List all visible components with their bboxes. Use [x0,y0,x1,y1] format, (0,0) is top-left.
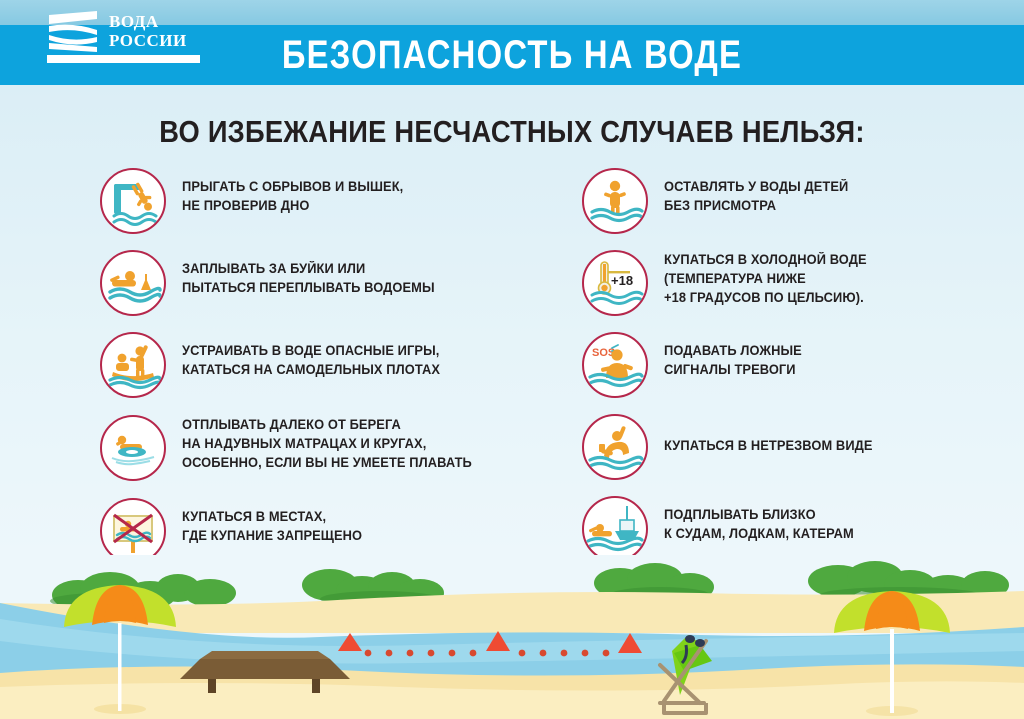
rules-column-left: ПРЫГАТЬ С ОБРЫВОВ И ВЫШЕК, НЕ ПРОВЕРИВ Д… [100,168,570,580]
list-item-line: ПОДПЛЫВАТЬ БЛИЗКО [664,505,854,524]
list-item-line: БЕЗ ПРИСМОТРА [664,196,848,215]
list-item-line: НА НАДУВНЫХ МАТРАЦАХ И КРУГАХ, [182,434,472,453]
list-item[interactable]: ОТПЛЫВАТЬ ДАЛЕКО ОТ БЕРЕГА НА НАДУВНЫХ М… [100,415,570,481]
list-item[interactable]: ЗАПЛЫВАТЬ ЗА БУЙКИ ИЛИ ПЫТАТЬСЯ ПЕРЕПЛЫВ… [100,250,570,316]
list-item-line: ПОДАВАТЬ ЛОЖНЫЕ [664,341,802,360]
list-item-text: ПОДАВАТЬ ЛОЖНЫЕ СИГНАЛЫ ТРЕВОГИ [664,332,802,379]
svg-text:+18: +18 [611,273,633,288]
list-item-line: +18 ГРАДУСОВ ПО ЦЕЛЬСИЮ). [664,288,867,307]
list-item-text: ЗАПЛЫВАТЬ ЗА БУЙКИ ИЛИ ПЫТАТЬСЯ ПЕРЕПЛЫВ… [182,250,435,297]
page-title: БЕЗОПАСНОСТЬ НА ВОДЕ [92,25,932,85]
list-item[interactable]: УСТРАИВАТЬ В ВОДЕ ОПАСНЫЕ ИГРЫ, КАТАТЬСЯ… [100,332,570,398]
list-item-line: ПЫТАТЬСЯ ПЕРЕПЛЫВАТЬ ВОДОЕМЫ [182,278,435,297]
list-item[interactable]: КУПАТЬСЯ В НЕТРЕЗВОМ ВИДЕ [582,414,1024,480]
list-item-line: ОТПЛЫВАТЬ ДАЛЕКО ОТ БЕРЕГА [182,415,472,434]
list-item-text: КУПАТЬСЯ В ХОЛОДНОЙ ВОДЕ (ТЕМПЕРАТУРА НИ… [664,250,867,307]
list-item-line: ЗАПЛЫВАТЬ ЗА БУЙКИ ИЛИ [182,259,435,278]
list-item[interactable]: ОСТАВЛЯТЬ У ВОДЫ ДЕТЕЙ БЕЗ ПРИСМОТРА [582,168,1024,234]
swim-near-boats-icon [582,496,648,562]
list-item-line: ГДЕ КУПАНИЕ ЗАПРЕЩЕНО [182,526,362,545]
swim-past-buoys-icon [100,250,166,316]
beach-scene-illustration [0,555,1024,719]
unattended-child-water-icon [582,168,648,234]
list-item-line: УСТРАИВАТЬ В ВОДЕ ОПАСНЫЕ ИГРЫ, [182,341,440,360]
list-item[interactable]: SOS ПОДАВАТЬ ЛОЖНЫЕ СИГНАЛЫ ТРЕВОГИ [582,332,1024,398]
list-item[interactable]: +18 КУПАТЬСЯ В ХОЛОДНОЙ ВОДЕ (ТЕМПЕРАТУР… [582,250,1024,316]
subtitle: ВО ИЗБЕЖАНИЕ НЕСЧАСТНЫХ СЛУЧАЕВ НЕЛЬЗЯ: [61,110,962,154]
list-item-text: ОТПЛЫВАТЬ ДАЛЕКО ОТ БЕРЕГА НА НАДУВНЫХ М… [182,415,472,472]
list-item-text: ПРЫГАТЬ С ОБРЫВОВ И ВЫШЕК, НЕ ПРОВЕРИВ Д… [182,168,403,215]
list-item-line: КАТАТЬСЯ НА САМОДЕЛЬНЫХ ПЛОТАХ [182,360,440,379]
cold-water-thermometer-icon: +18 [582,250,648,316]
list-item[interactable]: ПРЫГАТЬ С ОБРЫВОВ И ВЫШЕК, НЕ ПРОВЕРИВ Д… [100,168,570,234]
list-item-line: КУПАТЬСЯ В ХОЛОДНОЙ ВОДЕ [664,250,867,269]
list-item-text: ОСТАВЛЯТЬ У ВОДЫ ДЕТЕЙ БЕЗ ПРИСМОТРА [664,168,848,215]
cliff-diving-prohibited-icon [100,168,166,234]
list-item-line: КУПАТЬСЯ В МЕСТАХ, [182,507,362,526]
drunk-swimmer-icon [582,414,648,480]
list-item-line: ОСОБЕННО, ЕСЛИ ВЫ НЕ УМЕЕТЕ ПЛАВАТЬ [182,453,472,472]
list-item-line: КУПАТЬСЯ В НЕТРЕЗВОМ ВИДЕ [664,436,873,455]
list-item-line: К СУДАМ, ЛОДКАМ, КАТЕРАМ [664,524,854,543]
list-item-line: НЕ ПРОВЕРИВ ДНО [182,196,403,215]
list-item[interactable]: ПОДПЛЫВАТЬ БЛИЗКО К СУДАМ, ЛОДКАМ, КАТЕР… [582,496,1024,562]
list-item-text: КУПАТЬСЯ В МЕСТАХ, ГДЕ КУПАНИЕ ЗАПРЕЩЕНО [182,498,362,545]
list-item-text: ПОДПЛЫВАТЬ БЛИЗКО К СУДАМ, ЛОДКАМ, КАТЕР… [664,496,854,543]
inflatable-mattress-ring-icon [100,415,166,481]
list-item-line: (ТЕМПЕРАТУРА НИЖЕ [664,269,867,288]
infographic-poster: ВОДА РОССИИ БЕЗОПАСНОСТЬ НА ВОДЕ ВО ИЗБЕ… [0,0,1024,719]
list-item-text: УСТРАИВАТЬ В ВОДЕ ОПАСНЫЕ ИГРЫ, КАТАТЬСЯ… [182,332,440,379]
list-item-line: СИГНАЛЫ ТРЕВОГИ [664,360,802,379]
list-item-line: ОСТАВЛЯТЬ У ВОДЫ ДЕТЕЙ [664,177,848,196]
rules-column-right: ОСТАВЛЯТЬ У ВОДЫ ДЕТЕЙ БЕЗ ПРИСМОТРА +18 [582,168,1024,578]
dangerous-water-games-raft-icon [100,332,166,398]
list-item-text: КУПАТЬСЯ В НЕТРЕЗВОМ ВИДЕ [664,414,873,455]
false-sos-alarm-icon: SOS [582,332,648,398]
list-item-line: ПРЫГАТЬ С ОБРЫВОВ И ВЫШЕК, [182,177,403,196]
